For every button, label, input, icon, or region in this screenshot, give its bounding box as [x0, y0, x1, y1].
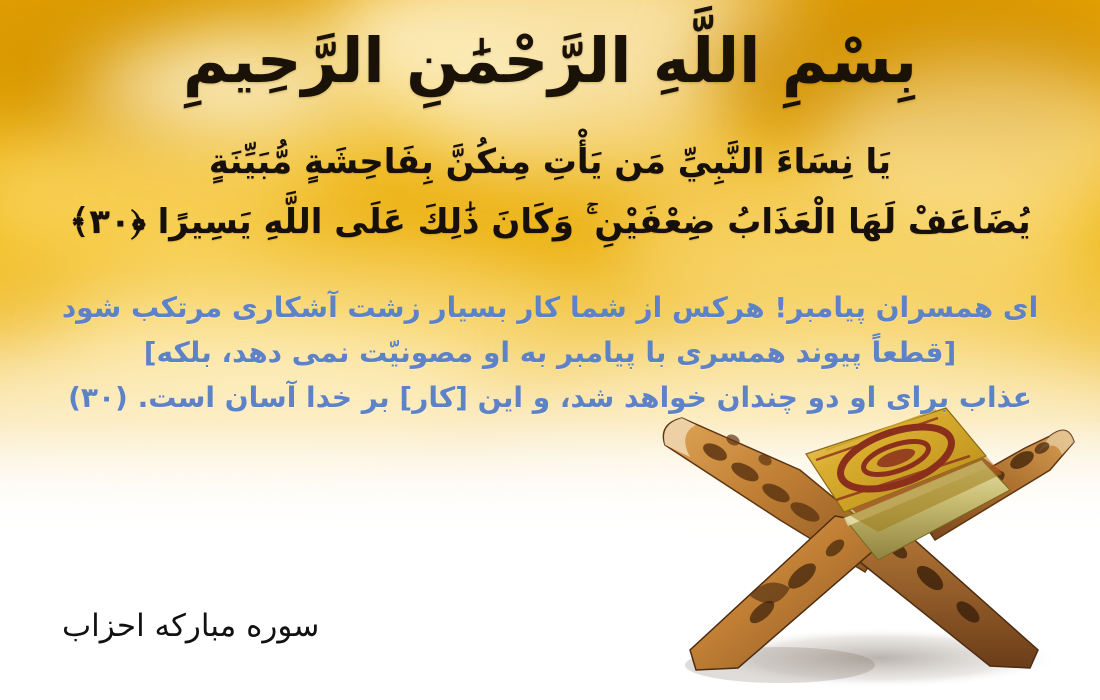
ayah-line-1: يَا نِسَاءَ النَّبِيِّ مَن يَأْتِ مِنكُن…: [0, 138, 1100, 187]
text-content: بِسْمِ اللَّهِ الرَّحْمَٰنِ الرَّحِيمِ ي…: [0, 0, 1100, 700]
translation-line-3: عذاب برای او دو چندان خواهد شد، و این [ک…: [0, 377, 1100, 419]
basmala-title: بِسْمِ اللَّهِ الرَّحْمَٰنِ الرَّحِيمِ: [0, 22, 1100, 100]
translation-line-2: [قطعاً پیوند همسری با پیامبر به او مصونی…: [0, 332, 1100, 374]
translation-line-1: ای همسران پیامبر! هرکس از شما کار بسیار …: [0, 287, 1100, 329]
quran-verse-poster: بِسْمِ اللَّهِ الرَّحْمَٰنِ الرَّحِيمِ ي…: [0, 0, 1100, 700]
ayah-line-2: يُضَاعَفْ لَهَا الْعَذَابُ ضِعْفَيْنِ ۚ …: [0, 198, 1100, 247]
surah-caption: سوره مبارکه احزاب: [62, 608, 319, 644]
